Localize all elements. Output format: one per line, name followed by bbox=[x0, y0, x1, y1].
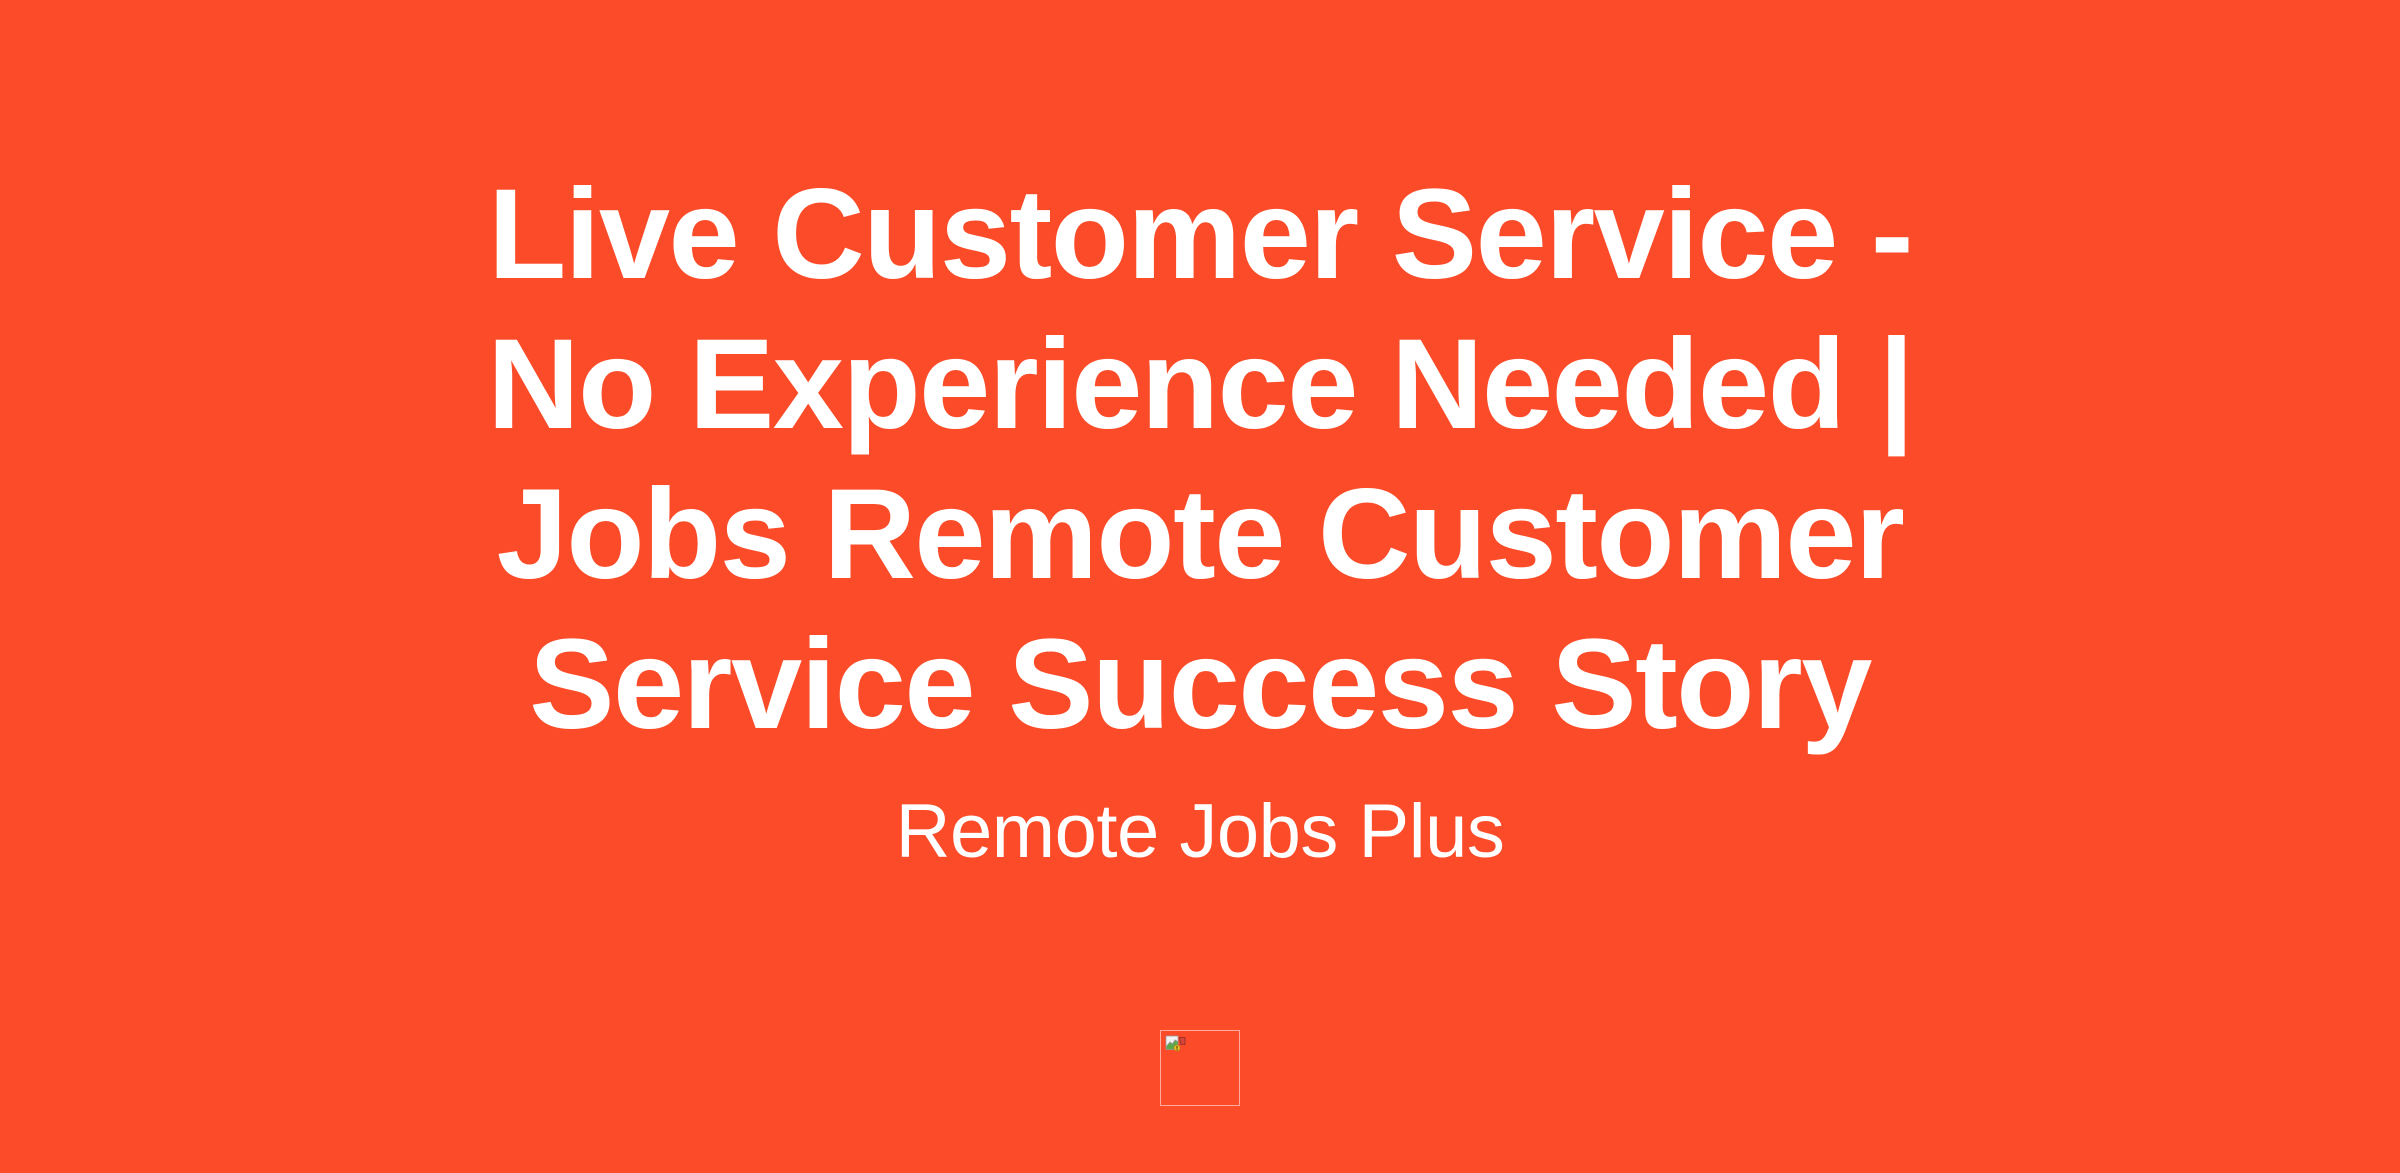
headline-block: Live Customer Service - No Experience Ne… bbox=[450, 160, 1950, 878]
page-title: Live Customer Service - No Experience Ne… bbox=[450, 160, 1950, 760]
media-slot bbox=[1160, 1030, 1240, 1106]
broken-image-icon bbox=[1165, 1035, 1187, 1055]
preview-card: Live Customer Service - No Experience Ne… bbox=[0, 0, 2400, 1173]
site-name-subtitle: Remote Jobs Plus bbox=[450, 760, 1950, 878]
broken-image-placeholder bbox=[1160, 1030, 1240, 1106]
